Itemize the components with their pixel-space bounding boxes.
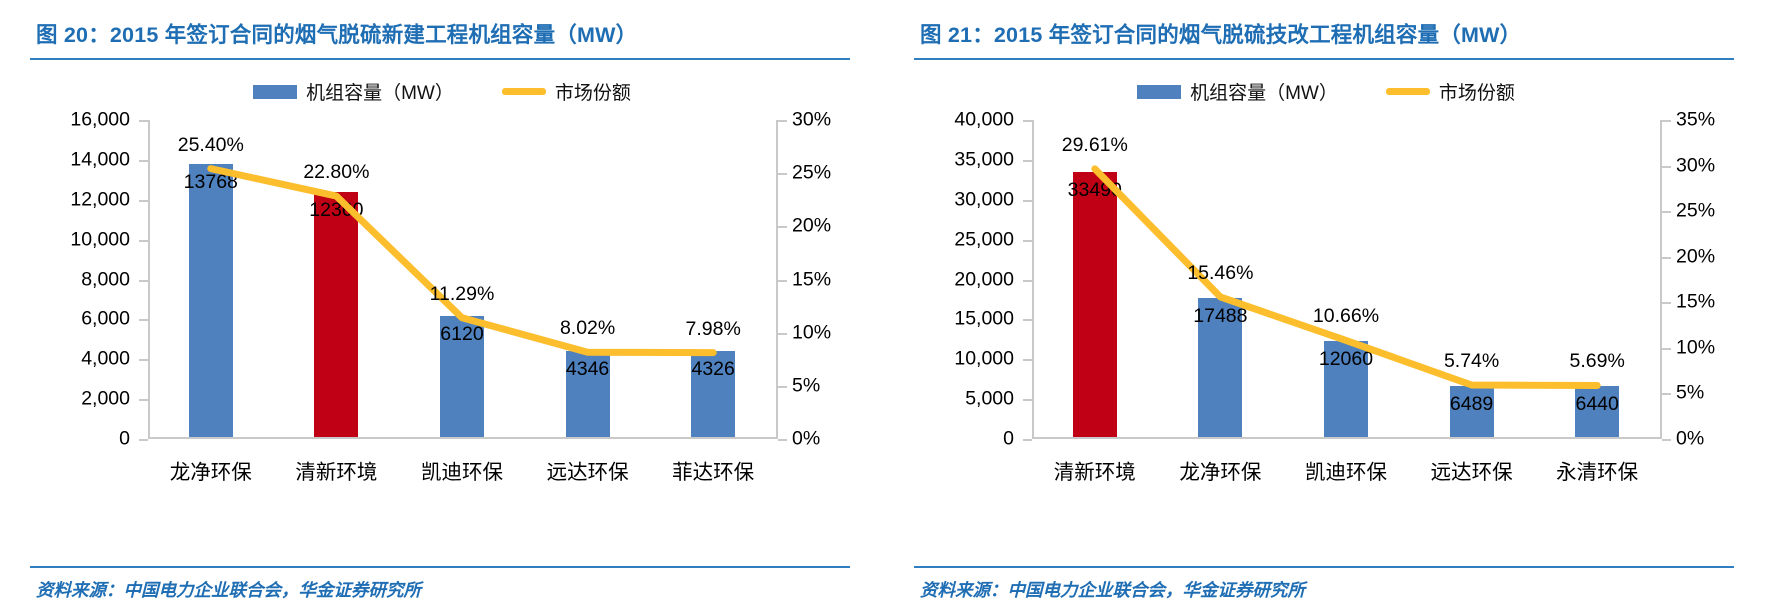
y-axis-left-tick-label: 10,000 [70,228,130,251]
chart-legend: 机组容量（MW） 市场份额 [914,78,1738,105]
legend-label-line: 市场份额 [555,78,631,105]
category-label: 永清环保 [1534,455,1660,485]
y-axis-right-tick-label: 20% [1676,245,1715,268]
y-axis-left-tick-label: 10,000 [954,348,1014,371]
y-axis-left-tick [1023,319,1032,321]
y-axis-right-tick-label: 15% [1676,291,1715,314]
page-title: 图 20：2015 年签订合同的烟气脱硫新建工程机组容量（MW） [36,18,854,49]
y-axis-right-tick [1662,120,1671,122]
category-label: 清新环境 [274,455,400,485]
title-divider [30,58,850,60]
y-axis-left-tick-label: 8,000 [81,268,130,291]
category-label: 龙净环保 [148,455,274,485]
bar-slot: 6120 [399,120,525,437]
bar-slot: 12060 [1283,120,1409,437]
y-axis-left-tick-label: 30,000 [954,188,1014,211]
y-axis-left-tick [1023,280,1032,282]
bar[interactable] [314,192,358,437]
y-axis-left-tick-label: 35,000 [954,148,1014,171]
y-axis-right-tick-label: 5% [792,374,820,397]
y-axis-left-tick-label: 6,000 [81,308,130,331]
y-axis-right-tick-label: 25% [792,162,831,185]
y-axis-right-tick [1662,302,1671,304]
x-axis-categories: 龙净环保清新环境凯迪环保远达环保菲达环保 [148,455,776,485]
category-label: 清新环境 [1032,455,1158,485]
source-note: 资料来源：中国电力企业联合会，华金证券研究所 [36,577,421,602]
bar-value-label: 13768 [184,171,238,194]
bar-series: 33490174881206064896440 [1032,120,1660,437]
y-axis-right-tick [778,120,787,122]
y-axis-right-tick [778,386,787,388]
line-swatch-icon [1386,88,1430,95]
plot-area: 1376812360612043464326 25.40%22.80%11.29… [148,120,776,439]
bar-value-label: 12060 [1319,348,1373,371]
legend-item-bar: 机组容量（MW） [253,78,454,105]
bar-value-label: 6440 [1575,393,1618,416]
legend-item-line: 市场份额 [502,78,631,105]
y-axis-left-tick [139,200,148,202]
bar-slot: 4326 [650,120,776,437]
y-axis-right-tick [778,439,787,441]
y-axis-left-tick [139,319,148,321]
y-axis-right-tick [1662,211,1671,213]
chart-20: 02,0004,0006,0008,00010,00012,00014,0001… [30,112,854,497]
category-label: 凯迪环保 [1283,455,1409,485]
y-axis-right-tick [778,226,787,228]
y-axis-left-tick-label: 12,000 [70,188,130,211]
bar-slot: 13768 [148,120,274,437]
bar-value-label: 4346 [566,358,609,381]
bar-value-label: 12360 [309,199,363,222]
y-axis-left-tick-label: 16,000 [70,109,130,132]
y-axis-right-tick-label: 0% [792,428,820,451]
y-axis-left-tick-label: 25,000 [954,228,1014,251]
y-axis-right-tick-label: 25% [1676,200,1715,223]
y-axis-left-tick [1023,160,1032,162]
y-axis-left-tick [1023,240,1032,242]
page-title: 图 21：2015 年签订合同的烟气脱硫技改工程机组容量（MW） [920,18,1738,49]
category-label: 远达环保 [525,455,651,485]
legend-label-bar: 机组容量（MW） [1190,78,1338,105]
figure-pair-page: 图 20：2015 年签订合同的烟气脱硫新建工程机组容量（MW） 机组容量（MW… [0,0,1768,616]
y-axis-left-tick [1023,439,1032,441]
y-axis-right-tick [1662,166,1671,168]
bar-slot: 12360 [274,120,400,437]
y-axis-right-tick-label: 20% [792,215,831,238]
y-axis-left-tick-label: 20,000 [954,268,1014,291]
chart-legend: 机组容量（MW） 市场份额 [30,78,854,105]
y-axis-right-tick [1662,257,1671,259]
y-axis-right-tick [778,333,787,335]
y-axis-right-tick-label: 5% [1676,382,1704,405]
legend-item-bar: 机组容量（MW） [1137,78,1338,105]
y-axis-right-tick [1662,393,1671,395]
legend-label-bar: 机组容量（MW） [306,78,454,105]
x-axis-categories: 清新环境龙净环保凯迪环保远达环保永清环保 [1032,455,1660,485]
y-axis-right-tick-label: 0% [1676,428,1704,451]
y-axis-left-tick [139,359,148,361]
y-axis-right-tick [1662,348,1671,350]
y-axis-left-tick [139,280,148,282]
y-axis-right-tick [778,280,787,282]
y-axis-left-tick [1023,200,1032,202]
bar-slot: 33490 [1032,120,1158,437]
y-axis-left-tick-label: 40,000 [954,109,1014,132]
y-axis-left-tick [139,240,148,242]
y-axis-left-tick-label: 15,000 [954,308,1014,331]
y-axis-left-tick-label: 14,000 [70,148,130,171]
source-divider [914,566,1734,568]
bar-swatch-icon [253,85,297,99]
y-axis-right-tick-label: 10% [792,321,831,344]
legend-item-line: 市场份额 [1386,78,1515,105]
y-axis-left-tick [1023,120,1032,122]
y-axis-left-tick [1023,399,1032,401]
plot-area: 33490174881206064896440 29.61%15.46%10.6… [1032,120,1660,439]
bar-value-label: 4326 [691,358,734,381]
y-axis-left-tick [139,120,148,122]
y-axis-left-tick [139,399,148,401]
line-swatch-icon [502,88,546,95]
bar-slot: 17488 [1158,120,1284,437]
y-axis-left-tick [139,439,148,441]
y-axis-right-tick-label: 35% [1676,109,1715,132]
bar[interactable] [1073,172,1117,437]
source-divider [30,566,850,568]
bar-value-label: 17488 [1193,305,1247,328]
source-note: 资料来源：中国电力企业联合会，华金证券研究所 [920,577,1305,602]
y-axis-right-tick-label: 15% [792,268,831,291]
bar-value-label: 6120 [440,323,483,346]
category-label: 龙净环保 [1158,455,1284,485]
y-axis-right-tick-label: 30% [792,109,831,132]
bar-slot: 6440 [1534,120,1660,437]
y-axis-right-tick [1662,439,1671,441]
category-label: 凯迪环保 [399,455,525,485]
y-axis-right-tick-label: 30% [1676,154,1715,177]
y-axis-left-tick-label: 0 [119,428,130,451]
y-axis-right-tick-label: 10% [1676,336,1715,359]
figure-panel-21: 图 21：2015 年签订合同的烟气脱硫技改工程机组容量（MW） 机组容量（MW… [884,0,1768,616]
legend-label-line: 市场份额 [1439,78,1515,105]
bar-swatch-icon [1137,85,1181,99]
bar-series: 1376812360612043464326 [148,120,776,437]
category-label: 远达环保 [1409,455,1535,485]
y-axis-left-tick-label: 4,000 [81,348,130,371]
y-axis-left-tick-label: 2,000 [81,388,130,411]
bar-slot: 4346 [525,120,651,437]
category-label: 菲达环保 [650,455,776,485]
y-axis-left-tick [1023,359,1032,361]
y-axis-left-tick-label: 5,000 [965,388,1014,411]
bar-value-label: 6489 [1450,393,1493,416]
y-axis-left-tick [139,160,148,162]
figure-panel-20: 图 20：2015 年签订合同的烟气脱硫新建工程机组容量（MW） 机组容量（MW… [0,0,884,616]
bar-value-label: 33490 [1068,179,1122,202]
title-divider [914,58,1734,60]
chart-21: 05,00010,00015,00020,00025,00030,00035,0… [914,112,1738,497]
bar-slot: 6489 [1409,120,1535,437]
bar[interactable] [189,164,233,437]
y-axis-right-tick [778,173,787,175]
y-axis-left-tick-label: 0 [1003,428,1014,451]
